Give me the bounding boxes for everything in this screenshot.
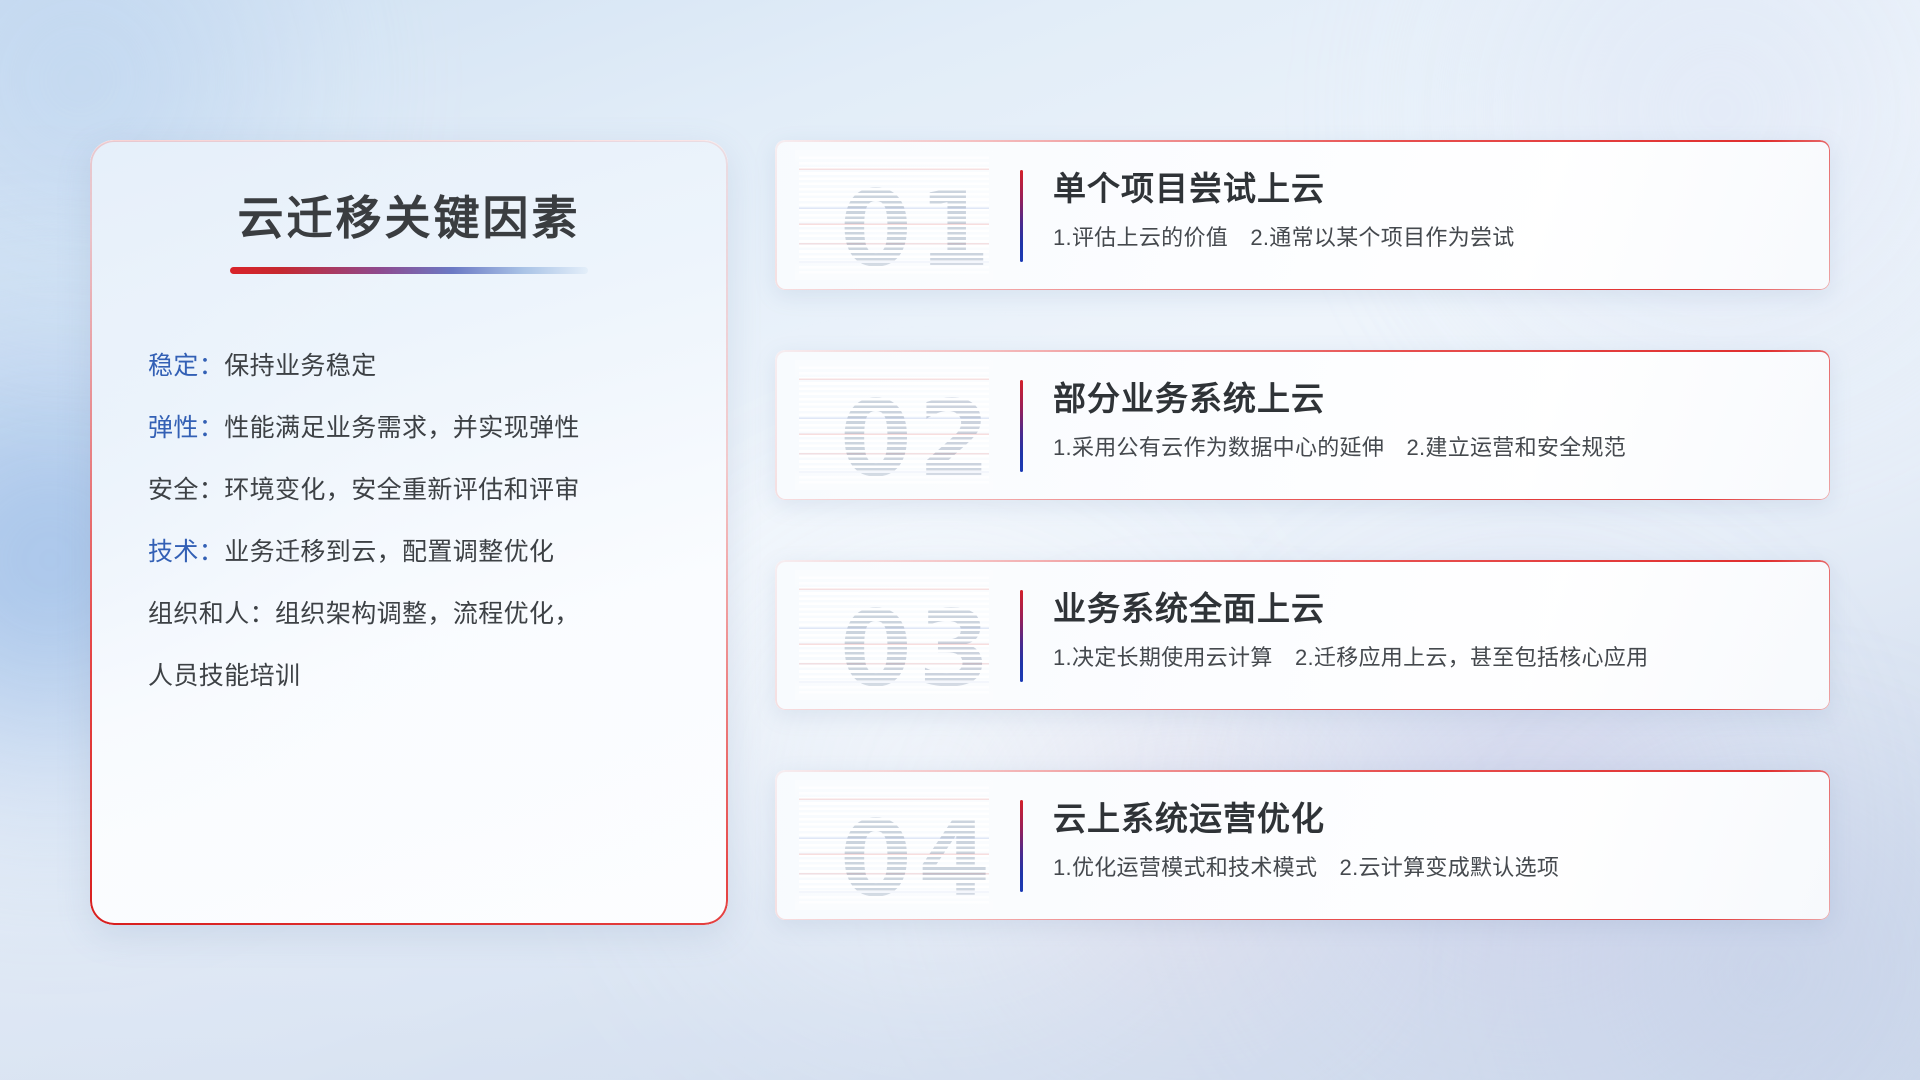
step-subtitle: 1.优化运营模式和技术模式 2.云计算变成默认选项 bbox=[1053, 850, 1559, 882]
page-title: 云迁移关键因素 bbox=[90, 182, 728, 248]
list-item-key: 稳定： bbox=[148, 352, 224, 380]
card-divider-accent bbox=[1020, 590, 1023, 682]
list-item: 安全：环境变化，安全重新评估和评审 bbox=[124, 459, 694, 521]
list-item: 弹性：性能满足业务需求，并实现弹性 bbox=[124, 397, 694, 459]
step-title: 单个项目尝试上云 bbox=[1053, 162, 1325, 210]
card-divider-accent bbox=[1020, 800, 1023, 892]
step-title: 云上系统运营优化 bbox=[1053, 792, 1325, 840]
list-item: 技术：业务迁移到云，配置调整优化 bbox=[124, 521, 694, 583]
slide-canvas: 云迁移关键因素 稳定：保持业务稳定 弹性：性能满足业务需求，并实现弹性 安全：环… bbox=[0, 0, 1920, 1080]
step-card[interactable]: 04 云上系统运营优化 1.优化运营模式和技术模式 2.云计算变成默认选项 bbox=[775, 770, 1830, 920]
step-title: 部分业务系统上云 bbox=[1053, 372, 1325, 420]
step-number: 04 bbox=[823, 798, 1013, 920]
list-item-key: 安全： bbox=[148, 476, 224, 504]
card-divider-accent bbox=[1020, 170, 1023, 262]
key-factors-panel: 云迁移关键因素 稳定：保持业务稳定 弹性：性能满足业务需求，并实现弹性 安全：环… bbox=[90, 140, 728, 925]
key-factors-list: 稳定：保持业务稳定 弹性：性能满足业务需求，并实现弹性 安全：环境变化，安全重新… bbox=[90, 335, 728, 707]
step-card[interactable]: 02 部分业务系统上云 1.采用公有云作为数据中心的延伸 2.建立运营和安全规范 bbox=[775, 350, 1830, 500]
step-number-graphic: 01 bbox=[799, 154, 989, 276]
list-item: 组织和人：组织架构调整，流程优化， bbox=[124, 583, 694, 645]
step-title: 业务系统全面上云 bbox=[1053, 582, 1325, 630]
list-item-key: 组织和人： bbox=[148, 600, 275, 628]
step-subtitle: 1.决定长期使用云计算 2.迁移应用上云，甚至包括核心应用 bbox=[1053, 640, 1648, 672]
step-number-graphic: 02 bbox=[799, 364, 989, 486]
step-card[interactable]: 01 单个项目尝试上云 1.评估上云的价值 2.通常以某个项目作为尝试 bbox=[775, 140, 1830, 290]
step-number-graphic: 03 bbox=[799, 574, 989, 696]
list-item-text: 保持业务稳定 bbox=[224, 352, 376, 380]
step-number: 03 bbox=[823, 588, 1013, 710]
list-item-text: 环境变化，安全重新评估和评审 bbox=[224, 476, 580, 504]
list-item-text: 性能满足业务需求，并实现弹性 bbox=[224, 414, 580, 442]
list-item-text: 业务迁移到云，配置调整优化 bbox=[224, 538, 554, 566]
list-item: 稳定：保持业务稳定 bbox=[124, 335, 694, 397]
title-underline-accent bbox=[230, 267, 588, 274]
list-item-text: 人员技能培训 bbox=[148, 662, 300, 690]
list-item-key: 技术： bbox=[148, 538, 224, 566]
step-card[interactable]: 03 业务系统全面上云 1.决定长期使用云计算 2.迁移应用上云，甚至包括核心应… bbox=[775, 560, 1830, 710]
list-item-text: 组织架构调整，流程优化， bbox=[275, 600, 580, 628]
step-number: 02 bbox=[823, 378, 1013, 500]
step-subtitle: 1.评估上云的价值 2.通常以某个项目作为尝试 bbox=[1053, 220, 1515, 252]
step-number-graphic: 04 bbox=[799, 784, 989, 906]
list-item-key: 弹性： bbox=[148, 414, 224, 442]
card-divider-accent bbox=[1020, 380, 1023, 472]
step-subtitle: 1.采用公有云作为数据中心的延伸 2.建立运营和安全规范 bbox=[1053, 430, 1626, 462]
list-item: 人员技能培训 bbox=[124, 645, 694, 707]
step-number: 01 bbox=[823, 168, 1013, 290]
